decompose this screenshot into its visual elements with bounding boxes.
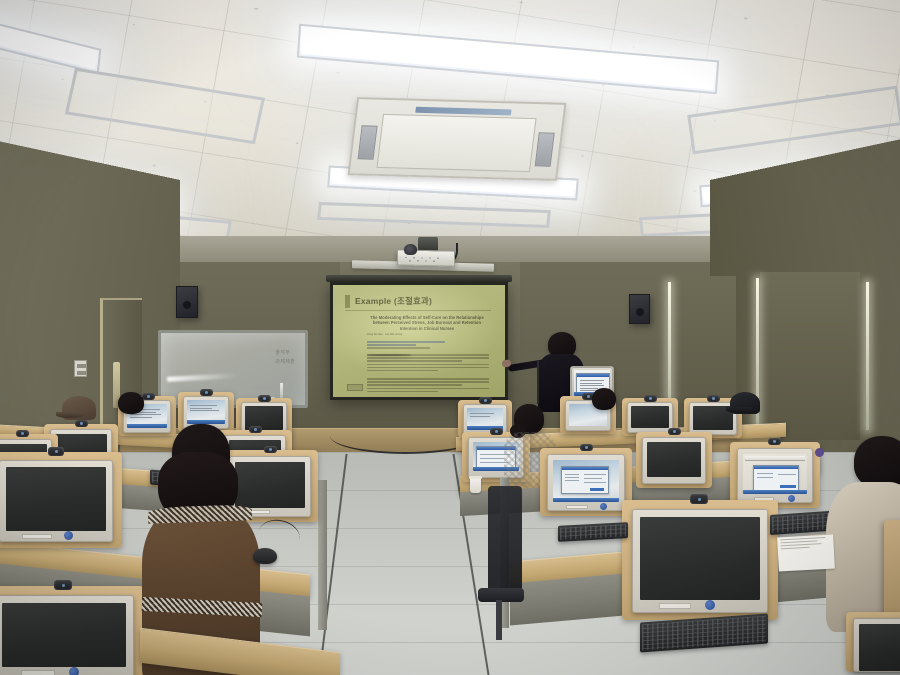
- webcam-icon: [142, 393, 155, 400]
- slide-footer-logo: [347, 384, 363, 391]
- document-text-lines: [190, 405, 222, 413]
- whiteboard-pen[interactable]: [280, 383, 283, 399]
- cap-brim: [56, 412, 84, 418]
- paper-abstract-block: [367, 354, 489, 373]
- workstation-frame: [622, 500, 778, 620]
- cup-lid: [469, 476, 482, 479]
- webcam-icon: [490, 428, 503, 435]
- ac-intake-grille: [376, 114, 536, 172]
- monitor-screen[interactable]: [467, 408, 503, 430]
- monitor: [627, 402, 673, 433]
- wall-speaker-left: [176, 286, 198, 318]
- monitor: [0, 460, 113, 542]
- keyboard-keys: [560, 524, 626, 539]
- projection-screen-roller: [326, 275, 512, 282]
- monitor-screen[interactable]: [743, 454, 807, 494]
- paper-line: [781, 543, 822, 546]
- monitor-asset-sticker: [566, 505, 588, 509]
- monitor: [642, 437, 706, 484]
- variable-list-row: [584, 474, 606, 475]
- lecture-slide: Example (조절효과) The Moderating Effects of…: [333, 285, 505, 397]
- window-list-row: [480, 458, 504, 459]
- monitor-screen[interactable]: [235, 462, 305, 508]
- paper-title: The Moderating Effects of Self-Care on t…: [367, 315, 487, 331]
- webcam-icon: [249, 426, 262, 433]
- webcam-icon: [264, 446, 277, 453]
- monitor: [0, 595, 134, 675]
- windows-taskbar[interactable]: [553, 498, 619, 502]
- statistics-dialog-window[interactable]: [753, 465, 799, 491]
- monitor-screen[interactable]: [859, 624, 900, 671]
- monitor-screen[interactable]: [187, 400, 225, 424]
- webcam-icon: [16, 430, 29, 437]
- monitor: [632, 509, 768, 613]
- workstation-frame: [636, 432, 712, 488]
- whiteboard-note: 출석부 과제제출: [275, 349, 295, 367]
- monitor: [853, 618, 900, 672]
- paper-meta-block: [367, 341, 489, 351]
- webcam-icon: [580, 444, 593, 451]
- monitor: [547, 454, 625, 511]
- chair-back[interactable]: [488, 486, 522, 594]
- webcam-icon: [48, 447, 64, 456]
- light-switch-panel[interactable]: [74, 360, 87, 377]
- windows-taskbar[interactable]: [127, 424, 167, 428]
- student-head: [118, 392, 144, 414]
- webcam-icon: [258, 395, 271, 402]
- desk-leg: [318, 480, 327, 630]
- slide-accent-bar: [345, 295, 350, 308]
- window-titlebar: [562, 467, 608, 470]
- monitor-screen[interactable]: [6, 467, 106, 531]
- monitor-asset-sticker: [659, 603, 691, 609]
- monitor: [737, 448, 813, 503]
- webcam-icon: [479, 397, 492, 404]
- ac-display-strip: [415, 107, 511, 116]
- dialog-ok-button[interactable]: [590, 488, 604, 491]
- variable-list-row: [584, 478, 602, 479]
- monitor-brand-badge: [69, 667, 79, 675]
- projector-lens: [404, 244, 417, 255]
- paper-line: [781, 547, 810, 550]
- student-head: [854, 436, 900, 488]
- monitor-brand-badge: [64, 531, 73, 540]
- window-titlebar: [577, 374, 609, 377]
- dialog-ok-button[interactable]: [780, 485, 796, 488]
- workstation-frame: [540, 448, 632, 516]
- webcam-icon: [75, 420, 88, 427]
- variable-list-row: [757, 477, 773, 478]
- paper-authors: Hong Se-Hee · Lee Min-Jeong: [367, 333, 402, 336]
- webcam-icon: [200, 389, 213, 396]
- webcam-icon: [768, 438, 781, 445]
- monitor-screen[interactable]: [2, 603, 126, 667]
- chair-base: [496, 600, 502, 640]
- workstation-frame: [0, 586, 144, 675]
- projection-screen: Example (조절효과) The Moderating Effects of…: [330, 282, 508, 400]
- statistics-dialog-window[interactable]: [561, 466, 609, 494]
- variable-list-row: [584, 482, 606, 483]
- webcam-icon: [644, 395, 657, 402]
- paper-body-block: [367, 378, 489, 394]
- ac-vent-left: [358, 125, 378, 159]
- webcam-icon: [54, 580, 72, 590]
- workstation-frame: [0, 452, 122, 548]
- slide-divider: [345, 310, 491, 311]
- variable-list-row: [565, 480, 579, 481]
- window-blind: [760, 272, 860, 440]
- monitor-asset-sticker: [22, 534, 52, 539]
- monitor-brand-badge: [600, 503, 607, 510]
- monitor-brand-badge: [705, 600, 715, 610]
- spreadsheet-toolbar[interactable]: [745, 456, 805, 461]
- webcam-icon: [690, 494, 708, 504]
- cap-brim: [726, 407, 752, 413]
- student-head: [592, 388, 616, 410]
- coffee-cup[interactable]: [470, 478, 481, 493]
- variable-list-row: [565, 477, 579, 478]
- microphone-stand: [537, 360, 539, 404]
- ceiling-air-conditioner: [348, 97, 567, 181]
- paper-line: [780, 537, 825, 540]
- projector-vent-dots: [403, 256, 449, 264]
- monitor-screen[interactable]: [553, 460, 619, 502]
- monitor-screen[interactable]: [631, 406, 669, 428]
- slide-title: Example (조절효과): [355, 295, 432, 307]
- monitor-side-marker: [815, 448, 824, 457]
- whiteboard-glare: [167, 373, 237, 382]
- handout-papers[interactable]: [777, 535, 835, 572]
- workstation-frame: [846, 612, 900, 672]
- variable-list-row: [565, 474, 579, 475]
- webcam-icon: [707, 395, 720, 402]
- monitor-screen[interactable]: [647, 442, 701, 477]
- variable-list-row: [778, 474, 796, 475]
- monitor-asset-sticker: [21, 670, 55, 675]
- wall-speaker-right: [629, 294, 650, 324]
- windows-taskbar[interactable]: [743, 490, 807, 494]
- webcam-icon: [668, 428, 681, 435]
- variable-list-row: [757, 473, 773, 474]
- monitor-screen[interactable]: [640, 517, 760, 600]
- blind-light-gap: [866, 282, 869, 430]
- monitor-brand-badge: [788, 495, 795, 502]
- ac-vent-right: [535, 132, 555, 166]
- document-text-lines: [470, 413, 500, 418]
- window-titlebar: [754, 466, 798, 469]
- workstation-frame: [730, 442, 820, 508]
- classroom-photo: 출석부 과제제출 Example (조절효과) The Moderating E…: [0, 0, 900, 675]
